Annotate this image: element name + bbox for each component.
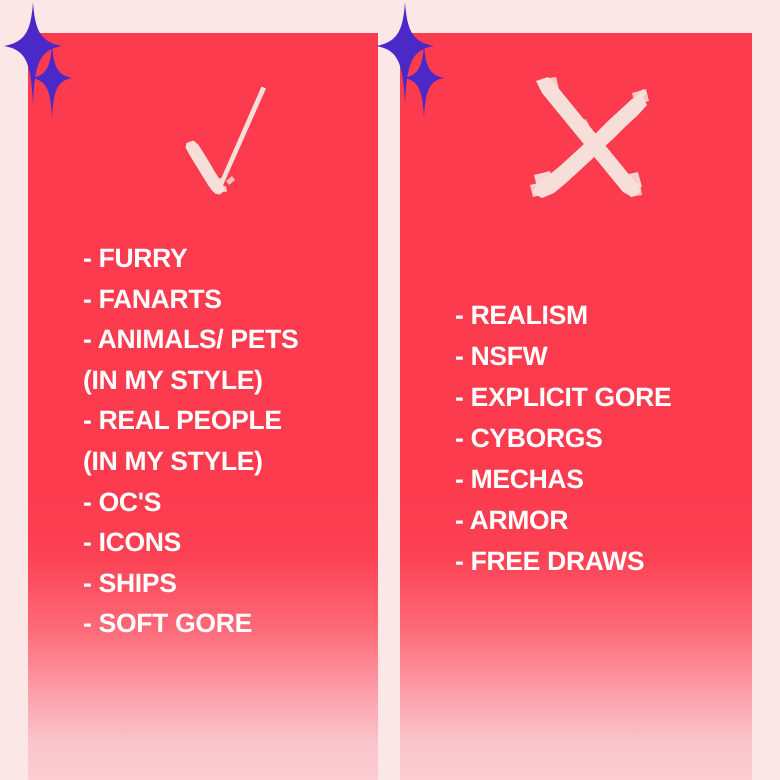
list-item: - NSFW	[455, 336, 671, 377]
list-item-note: (IN MY STYLE)	[83, 441, 298, 482]
sparkle-group-right	[372, 0, 492, 130]
list-item: - FREE DRAWS	[455, 541, 671, 582]
panel-will-draw: - FURRY - FANARTS - ANIMALS/ PETS (IN MY…	[28, 33, 378, 780]
list-item: - REALISM	[455, 295, 671, 336]
list-item: - SOFT GORE	[83, 603, 298, 644]
four-point-star-large-icon	[4, 2, 62, 104]
x-mark-icon	[528, 75, 653, 200]
four-point-star-small-icon	[404, 44, 444, 118]
list-item: - FURRY	[83, 238, 298, 279]
list-item: - MECHAS	[455, 459, 671, 500]
list-item: - SHIPS	[83, 563, 298, 604]
check-mark-icon	[160, 55, 290, 210]
panel-wont-draw: - REALISM - NSFW - EXPLICIT GORE - CYBOR…	[400, 33, 752, 780]
list-item: - EXPLICIT GORE	[455, 377, 671, 418]
list-item: - CYBORGS	[455, 418, 671, 459]
wont-draw-list: - REALISM - NSFW - EXPLICIT GORE - CYBOR…	[455, 295, 671, 582]
four-point-star-large-icon	[376, 2, 434, 104]
list-item: - OC'S	[83, 482, 298, 523]
list-item-note: (IN MY STYLE)	[83, 360, 298, 401]
list-item: - ICONS	[83, 522, 298, 563]
sparkle-group-left	[0, 0, 120, 130]
list-item: - FANARTS	[83, 279, 298, 320]
list-item: - ANIMALS/ PETS	[83, 319, 298, 360]
list-item: - REAL PEOPLE	[83, 400, 298, 441]
four-point-star-small-icon	[32, 44, 72, 118]
poster-canvas: - FURRY - FANARTS - ANIMALS/ PETS (IN MY…	[0, 0, 780, 780]
will-draw-list: - FURRY - FANARTS - ANIMALS/ PETS (IN MY…	[83, 238, 298, 644]
list-item: - ARMOR	[455, 500, 671, 541]
